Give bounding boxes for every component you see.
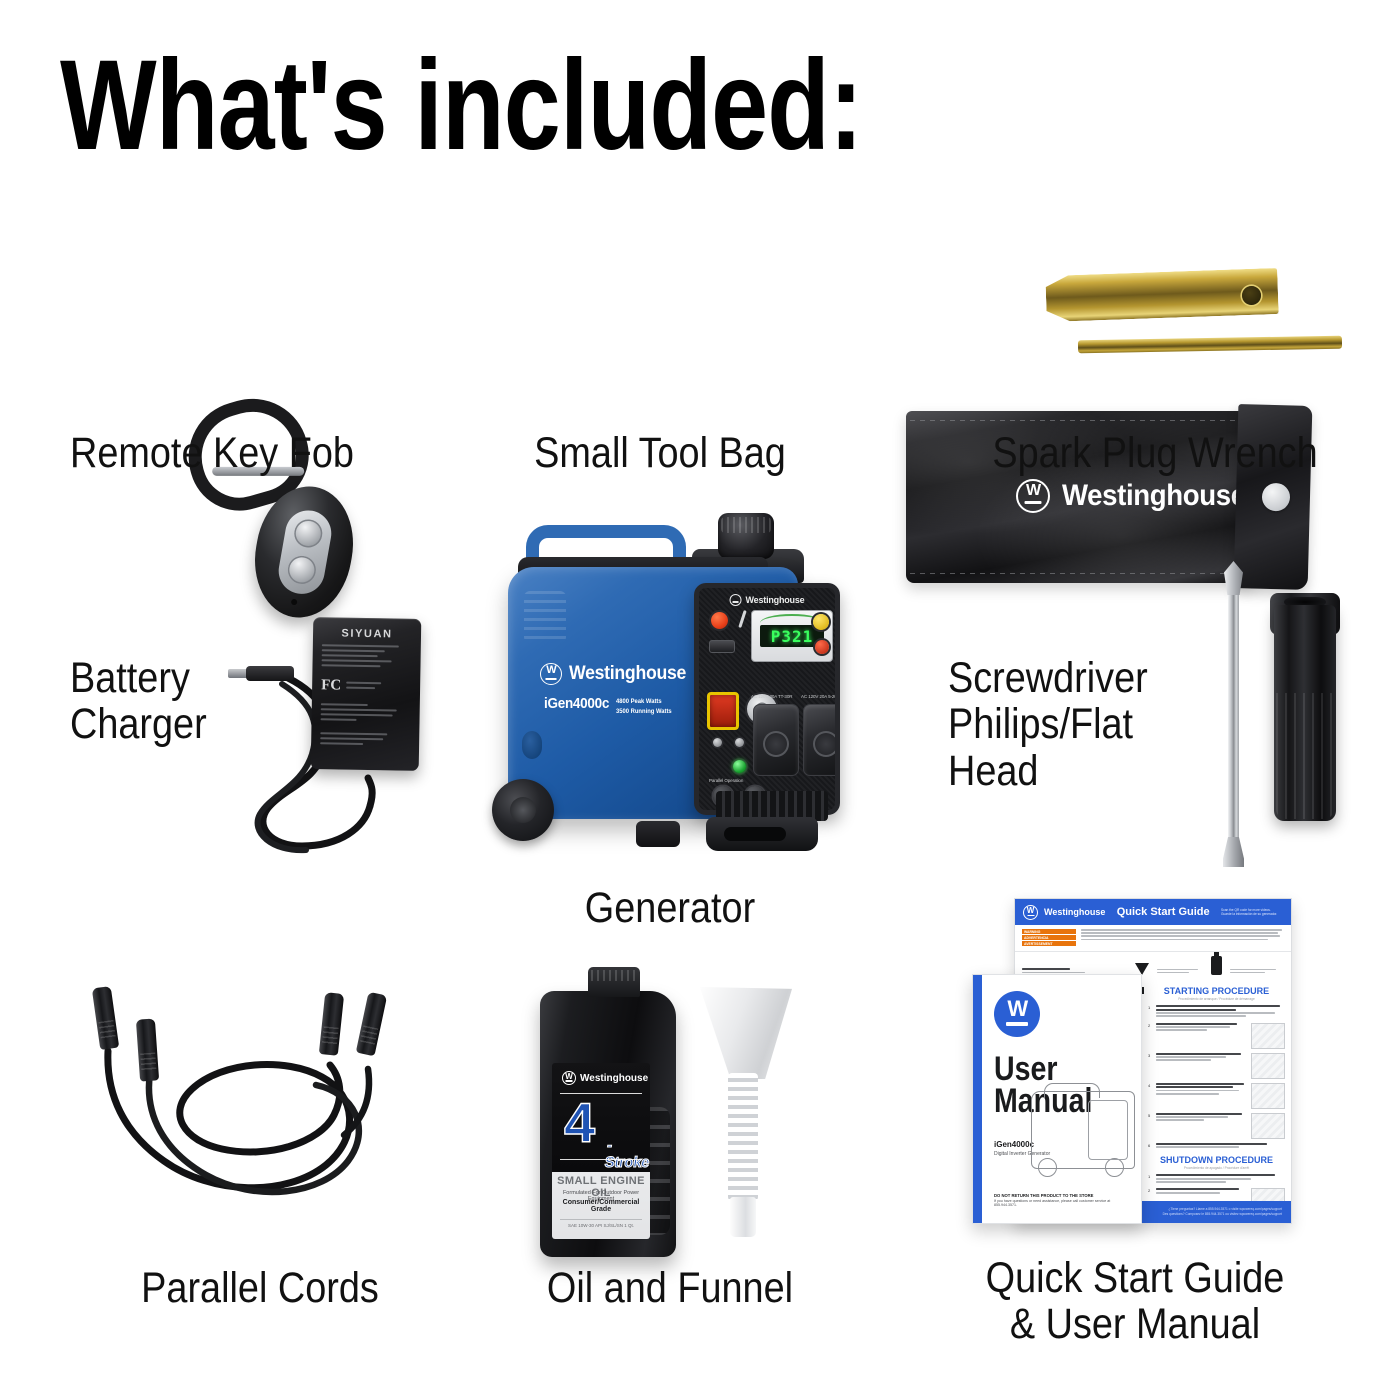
- cords-cables: [72, 965, 412, 1265]
- battery-charger-image: SIYUAN FC: [228, 600, 464, 864]
- oil-and-funnel-image: Westinghouse 4 -Stroke SMALL ENGINE OIL …: [514, 965, 824, 1265]
- badge-warning-en: WARNING: [1022, 929, 1076, 934]
- qsg-step: 3: [1148, 1053, 1285, 1079]
- charger-spec-text: [321, 644, 411, 668]
- qsg-warning-text: [1081, 929, 1284, 947]
- user-manual-booklet: User Manual iGen4000c Digital Inverter G…: [972, 974, 1142, 1224]
- qsg-header-fine-print: Scan the QR code for more videos. Guarde…: [1221, 908, 1283, 917]
- generator-front-foot: [636, 821, 680, 847]
- caption-small-tool-bag: Small Tool Bag: [466, 430, 853, 476]
- qsg-section-shutdown: SHUTDOWN PROCEDURE: [1148, 1155, 1285, 1165]
- westinghouse-circle-logo-icon: [994, 991, 1040, 1037]
- screwdriver-handle-flutes: [1276, 693, 1334, 819]
- manual-note-bold: DO NOT RETURN THIS PRODUCT TO THE STORE: [994, 1193, 1131, 1198]
- generator-lower-grip: [706, 817, 818, 851]
- qsg-warning-badges: WARNING ADVERTENCIA AVERTISSEMENT: [1022, 929, 1076, 947]
- manual-return-note: DO NOT RETURN THIS PRODUCT TO THE STORE …: [994, 1193, 1131, 1207]
- qsg-section-starting: STARTING PROCEDURE: [1148, 986, 1285, 996]
- generator-fuel-cap: [718, 513, 774, 559]
- caption-quick-start-guide-user-manual: Quick Start Guide & User Manual: [928, 1255, 1342, 1348]
- included-items-grid: Remote Key Fob Westinghouse Small Tool B…: [0, 0, 1400, 1400]
- manual-spine: [973, 975, 982, 1223]
- oil-stroke-number: 4: [564, 1095, 595, 1151]
- item-generator: Westinghouse iGen4000c 4800 Peak Watts 3…: [440, 500, 900, 940]
- generator-image: Westinghouse iGen4000c 4800 Peak Watts 3…: [470, 505, 870, 875]
- westinghouse-crown-icon: [730, 594, 742, 606]
- panel-choke-lever[interactable]: [738, 610, 746, 628]
- item-oil-and-funnel: Westinghouse 4 -Stroke SMALL ENGINE OIL …: [450, 960, 890, 1350]
- generator-model-label: iGen4000c: [544, 695, 609, 712]
- screwdriver-image: [1210, 565, 1370, 861]
- funnel-flexible-tube: [728, 1073, 758, 1201]
- manual-note-small: If you have questions or need assistance…: [994, 1199, 1131, 1207]
- plug-tip: [228, 669, 248, 678]
- caption-parallel-cords: Parallel Cords: [84, 1265, 436, 1311]
- panel-ready-led: [733, 760, 746, 773]
- flat-head-tip-icon: [1223, 837, 1244, 867]
- charger-fcc-mark: FC: [321, 678, 411, 695]
- qsg-header-bar: Westinghouse Quick Start Guide Scan the …: [1015, 899, 1291, 925]
- panel-main-rocker-switch[interactable]: [707, 692, 739, 730]
- phillips-tip-icon: [1224, 561, 1243, 595]
- fob-lock-button: [292, 517, 324, 549]
- panel-breaker-2[interactable]: [735, 738, 744, 747]
- westinghouse-crown-icon: [1023, 905, 1038, 920]
- oil-label-brand: Westinghouse: [562, 1071, 648, 1085]
- westinghouse-crown-icon: [540, 663, 562, 685]
- qsg-step-figure: [1251, 1083, 1285, 1109]
- panel-outlet-520r[interactable]: [803, 704, 840, 776]
- qsg-supply-icons: [1015, 952, 1291, 975]
- qsg-step: 1: [1148, 1005, 1285, 1019]
- caption-remote-key-fob: Remote Key Fob: [70, 430, 354, 476]
- oil-bottle-cap: [588, 967, 640, 997]
- panel-outlet-tt30r[interactable]: [753, 704, 799, 776]
- caption-spark-plug-wrench: Spark Plug Wrench: [957, 430, 1353, 476]
- caption-screwdriver: Screwdriver Philips/Flat Head: [948, 655, 1148, 794]
- charger-brand-label: SIYUAN: [322, 627, 412, 641]
- fob-button-plate: [275, 507, 335, 598]
- qsg-step-figure: [1251, 1113, 1285, 1139]
- qsg-step: 5: [1148, 1113, 1285, 1139]
- qsg-step-figure: [1251, 1023, 1285, 1049]
- generator-watts-label: 4800 Peak Watts 3500 Running Watts: [616, 697, 672, 717]
- panel-stop-button[interactable]: [711, 612, 728, 629]
- qsg-right-column: STARTING PROCEDURE Procedimiento de arra…: [1142, 975, 1291, 1224]
- generator-brand-wordmark: Westinghouse: [569, 663, 686, 685]
- plug-body: [246, 666, 294, 681]
- line-art-wheel: [1105, 1158, 1124, 1177]
- manual-generator-line-art: [1031, 1091, 1135, 1169]
- item-battery-charger: SIYUAN FC: [60, 595, 460, 895]
- panel-breaker-1[interactable]: [713, 738, 722, 747]
- oil-brand-wordmark: Westinghouse: [580, 1073, 648, 1084]
- oil-bottle-icon: [1211, 956, 1222, 975]
- qsg-step: 2: [1148, 1023, 1285, 1049]
- qsg-step-figure: [1251, 1053, 1285, 1079]
- outlet-label-left: AC 120V 30A TT-30R: [751, 694, 792, 699]
- panel-yellow-indicator: [813, 614, 829, 630]
- qsg-step: 4: [1148, 1083, 1285, 1109]
- outlet-label-right: AC 120V 20A 5-20R: [801, 694, 840, 699]
- charger-barrel-plug-icon: [228, 666, 292, 681]
- charger-attention-text: [320, 703, 411, 746]
- qsg-brand: Westinghouse: [1044, 907, 1105, 917]
- item-quick-start-guide-user-manual: Westinghouse Quick Start Guide Scan the …: [900, 890, 1370, 1360]
- funnel-cone: [696, 987, 792, 1079]
- item-parallel-cords: Parallel Cords: [60, 960, 460, 1350]
- qsg-section-starting-sub: Procedimiento de arranque / Procédure de…: [1148, 997, 1285, 1001]
- generator-wheel: [492, 779, 554, 841]
- generator-side-port: [522, 731, 542, 759]
- parallel-cords-image: [72, 965, 412, 1265]
- qsg-warning-block: WARNING ADVERTENCIA AVERTISSEMENT: [1015, 925, 1291, 952]
- badge-warning-fr: AVERTISSEMENT: [1022, 941, 1076, 946]
- line-art-wheel: [1038, 1158, 1057, 1177]
- display-value: P321: [771, 627, 814, 646]
- item-spark-plug-wrench: Spark Plug Wrench: [930, 195, 1380, 495]
- display-lcd: P321: [760, 625, 824, 647]
- qsg-section-shutdown-sub: Procedimiento de apagado / Procédure d'a…: [1148, 1166, 1285, 1170]
- spark-plug-wrench-image: [1046, 272, 1342, 368]
- label-divider: [560, 1159, 642, 1160]
- panel-parallel-label: Parallel Operation: [709, 778, 743, 783]
- oil-bottle-label: Westinghouse 4 -Stroke SMALL ENGINE OIL …: [552, 1063, 650, 1239]
- oil-bottle: Westinghouse 4 -Stroke SMALL ENGINE OIL …: [540, 991, 676, 1257]
- qsg-title: Quick Start Guide: [1111, 906, 1215, 918]
- manuals-image: Westinghouse Quick Start Guide Scan the …: [972, 898, 1292, 1246]
- panel-red-indicator: [815, 640, 829, 654]
- item-remote-key-fob: Remote Key Fob: [60, 195, 420, 495]
- oil-label-sub3: SAE 10W-30 API SJ/SL/SN 1 Qt.: [560, 1219, 642, 1228]
- westinghouse-crown-icon: [562, 1071, 576, 1085]
- fob-unlock-button: [286, 554, 318, 586]
- oil-stroke-word: -Stroke: [604, 1137, 650, 1171]
- generator-brand-logo: Westinghouse: [540, 663, 695, 685]
- panel-fuel-switch[interactable]: [709, 640, 735, 653]
- funnel-tip: [730, 1197, 756, 1237]
- qsg-step: 1: [1148, 1174, 1285, 1184]
- wrench-lever-rod: [1078, 336, 1342, 354]
- caption-generator: Generator: [468, 885, 873, 931]
- oil-label-sub2: Consumer/Commercial Grade: [552, 1199, 650, 1213]
- charger-brick: SIYUAN FC: [311, 617, 422, 771]
- item-small-tool-bag: Westinghouse Small Tool Bag: [440, 195, 880, 495]
- badge-warning-es: ADVERTENCIA: [1022, 935, 1076, 940]
- generator-control-panel: Westinghouse P321 AC 120V 30A TT-30R AC …: [694, 583, 840, 815]
- panel-brand-wordmark: Westinghouse: [746, 595, 805, 605]
- item-screwdriver: Screwdriver Philips/Flat Head: [930, 560, 1380, 900]
- caption-battery-charger: Battery Charger: [70, 655, 207, 748]
- screwdriver-shaft: [1228, 569, 1239, 847]
- caption-oil-and-funnel: Oil and Funnel: [476, 1265, 863, 1311]
- qsg-step: 6: [1148, 1143, 1285, 1150]
- panel-brand-logo: Westinghouse: [730, 594, 805, 606]
